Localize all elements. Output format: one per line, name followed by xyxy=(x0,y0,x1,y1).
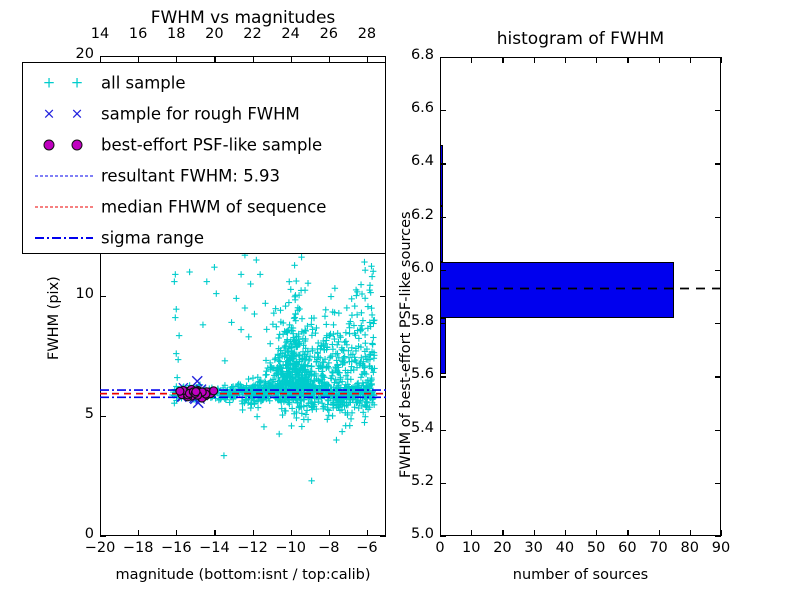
y-tick-label: 5 xyxy=(85,406,94,422)
axis-tick xyxy=(440,110,446,111)
axis-tick xyxy=(565,530,566,536)
legend-item[interactable]: sigma range xyxy=(23,222,385,253)
axis-tick xyxy=(596,530,597,536)
x-tick-label-bottom: −10 xyxy=(275,540,306,556)
legend-item[interactable]: best-effort PSF-like sample xyxy=(23,129,385,160)
axis-tick xyxy=(715,163,721,164)
axis-tick xyxy=(440,57,446,58)
legend-label: all sample xyxy=(101,73,186,92)
x-tick-label: 50 xyxy=(587,540,605,556)
axis-tick xyxy=(715,376,721,377)
x-tick-label: 90 xyxy=(712,540,730,556)
y-tick-label: 6.6 xyxy=(411,100,434,116)
x-tick-label: 80 xyxy=(681,540,699,556)
axis-tick xyxy=(291,530,292,536)
legend-marker-dashdot-line-icon xyxy=(29,222,97,253)
x-tick-label-top: 18 xyxy=(167,26,185,42)
histogram-bar xyxy=(440,206,443,262)
axis-tick xyxy=(253,530,254,536)
axis-tick xyxy=(100,536,106,537)
axis-tick xyxy=(690,57,691,63)
axis-tick xyxy=(627,57,628,63)
axis-tick xyxy=(715,430,721,431)
axis-tick xyxy=(440,536,446,537)
x-tick-label-top: 22 xyxy=(243,26,261,42)
x-tick-label-top: 16 xyxy=(129,26,147,42)
legend-marker-cross-icon: ×× xyxy=(29,98,97,129)
figure-canvas: FWHM vs magnitudes 1416182022242628 0510… xyxy=(0,0,800,600)
axis-tick xyxy=(715,323,721,324)
axis-tick xyxy=(176,530,177,536)
legend-label: resultant FWHM: 5.93 xyxy=(101,166,280,185)
axis-tick xyxy=(659,530,660,536)
axis-tick xyxy=(100,416,106,417)
histogram-bar xyxy=(440,262,674,318)
dot-marker-icon xyxy=(44,139,55,150)
legend-item[interactable]: median FHWM of sequence xyxy=(23,191,385,222)
axis-tick xyxy=(715,270,721,271)
dashed-line-icon xyxy=(35,175,93,176)
x-tick-label: 40 xyxy=(556,540,574,556)
cross-marker-icon: × xyxy=(43,106,56,121)
axis-tick xyxy=(440,217,446,218)
legend-marker-dashed-line-icon xyxy=(29,160,97,191)
legend-item[interactable]: ××sample for rough FWHM xyxy=(23,98,385,129)
axis-tick xyxy=(659,57,660,63)
x-tick-label-bottom: −12 xyxy=(237,540,268,556)
axis-tick xyxy=(367,530,368,536)
cross-marker-icon: × xyxy=(71,106,84,121)
axis-tick xyxy=(100,296,106,297)
plus-marker-icon: + xyxy=(71,75,84,90)
legend-label: sample for rough FWHM xyxy=(101,104,300,123)
axis-tick xyxy=(100,56,106,57)
axis-tick xyxy=(565,57,566,63)
axis-tick xyxy=(715,536,721,537)
x-tick-label-top: 28 xyxy=(358,26,376,42)
axis-tick xyxy=(380,56,386,57)
y-tick-label: 6.4 xyxy=(411,153,434,169)
x-tick-label-bottom: −20 xyxy=(85,540,116,556)
axis-tick xyxy=(715,110,721,111)
axis-tick xyxy=(380,296,386,297)
right-panel-ylabel: FWHM of best-effort PSF-like sources xyxy=(398,211,414,478)
y-tick-label: 10 xyxy=(76,286,94,302)
y-tick-label: 6.2 xyxy=(411,207,434,223)
axis-tick xyxy=(471,57,472,63)
legend-label: best-effort PSF-like sample xyxy=(101,135,322,154)
y-tick-label: 5.0 xyxy=(411,526,434,542)
axis-tick xyxy=(440,483,446,484)
x-tick-label: 0 xyxy=(435,540,444,556)
histogram-bar xyxy=(440,145,443,206)
legend-item[interactable]: resultant FWHM: 5.93 xyxy=(23,160,385,191)
legend-marker-dashed-line-icon xyxy=(29,191,97,222)
axis-tick xyxy=(440,323,446,324)
axis-tick xyxy=(690,530,691,536)
legend-item[interactable]: ++all sample xyxy=(23,67,385,98)
x-tick-label-top: 24 xyxy=(281,26,299,42)
y-tick-label: 5.2 xyxy=(411,473,434,489)
plus-marker-icon: + xyxy=(43,75,56,90)
axis-tick xyxy=(440,163,446,164)
axis-tick xyxy=(715,57,721,58)
axis-tick xyxy=(329,530,330,536)
axis-tick xyxy=(440,430,446,431)
axis-tick xyxy=(138,530,139,536)
y-tick-label: 5.4 xyxy=(411,420,434,436)
x-tick-label-bottom: −16 xyxy=(161,540,192,556)
dot-marker-icon xyxy=(72,139,83,150)
axis-tick xyxy=(502,530,503,536)
y-tick-label: 5.6 xyxy=(411,366,434,382)
legend-label: sigma range xyxy=(101,228,204,247)
left-panel-ylabel: FWHM (pix) xyxy=(46,276,62,360)
axis-tick xyxy=(502,57,503,63)
axis-tick xyxy=(440,270,446,271)
x-tick-label: 70 xyxy=(649,540,667,556)
axis-tick xyxy=(214,530,215,536)
dashed-line-icon xyxy=(35,206,93,207)
axis-tick xyxy=(534,57,535,63)
right-panel-title: histogram of FWHM xyxy=(440,29,721,49)
left-panel-xlabel: magnitude (bottom:isnt / top:calib) xyxy=(100,567,386,583)
histogram-bars-layer xyxy=(440,57,721,536)
axis-tick xyxy=(596,57,597,63)
right-panel-xlabel: number of sources xyxy=(440,567,721,583)
x-tick-label: 30 xyxy=(524,540,542,556)
legend-marker-dot-icon xyxy=(29,129,97,160)
legend-label: median FHWM of sequence xyxy=(101,197,326,216)
x-tick-label: 10 xyxy=(462,540,480,556)
axis-tick xyxy=(380,416,386,417)
axis-tick xyxy=(471,530,472,536)
x-tick-label-top: 14 xyxy=(91,26,109,42)
axis-tick xyxy=(627,530,628,536)
y-tick-label: 5.8 xyxy=(411,313,434,329)
axis-tick xyxy=(721,530,722,536)
axis-tick xyxy=(534,530,535,536)
left-panel-title: FWHM vs magnitudes xyxy=(100,8,386,28)
axis-tick xyxy=(440,376,446,377)
dashdot-line-icon xyxy=(35,237,93,239)
x-tick-label: 20 xyxy=(493,540,511,556)
histogram-bar xyxy=(440,318,446,374)
x-tick-label-bottom: −18 xyxy=(123,540,154,556)
x-tick-label-top: 26 xyxy=(320,26,338,42)
axis-tick xyxy=(715,483,721,484)
legend[interactable]: ++all sample××sample for rough FWHMbest-… xyxy=(22,62,386,254)
y-tick-label: 6.8 xyxy=(411,47,434,63)
axis-tick xyxy=(380,536,386,537)
y-tick-label: 6.0 xyxy=(411,260,434,276)
x-tick-label: 60 xyxy=(618,540,636,556)
x-tick-label-top: 20 xyxy=(205,26,223,42)
y-tick-label: 20 xyxy=(76,46,94,62)
legend-marker-plus-icon: ++ xyxy=(29,67,97,98)
axis-tick xyxy=(715,217,721,218)
axis-tick xyxy=(721,57,722,63)
x-tick-label-bottom: −6 xyxy=(356,540,377,556)
x-tick-label-bottom: −14 xyxy=(199,540,230,556)
x-tick-label-bottom: −8 xyxy=(318,540,339,556)
